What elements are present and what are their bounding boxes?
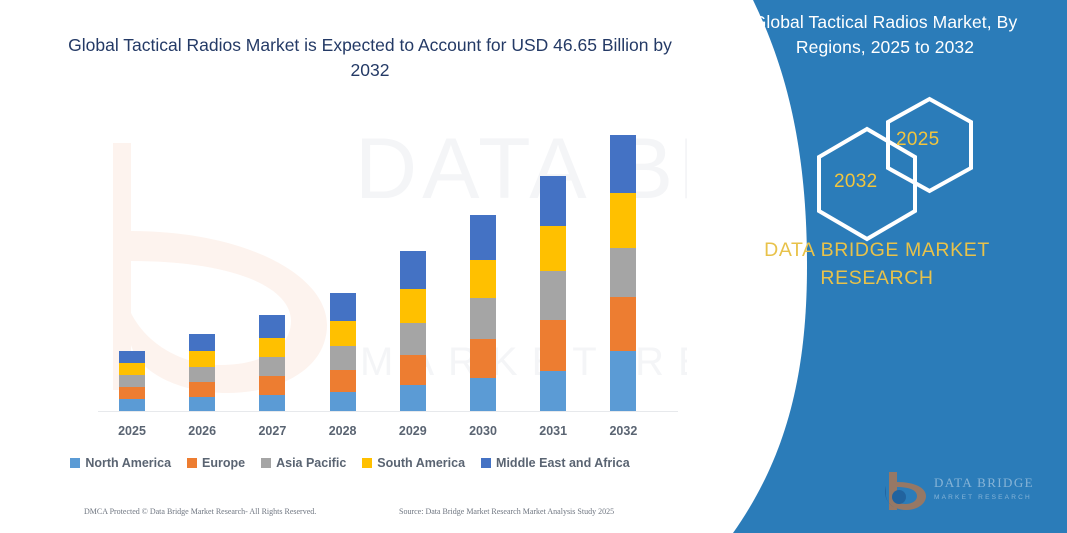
- bar-segment-europe[interactable]: [400, 355, 426, 385]
- legend-item-north-america[interactable]: North America: [70, 456, 171, 470]
- footer-source: Source: Data Bridge Market Research Mark…: [399, 507, 614, 516]
- bar-segment-europe[interactable]: [259, 376, 285, 395]
- legend-label: Europe: [202, 456, 245, 470]
- bar-2028[interactable]: [330, 0, 356, 411]
- legend-label: Asia Pacific: [276, 456, 346, 470]
- bar-2030[interactable]: [470, 0, 496, 411]
- bar-segment-europe[interactable]: [610, 297, 636, 351]
- x-axis-label-2029: 2029: [383, 424, 443, 438]
- bar-segment-south-america[interactable]: [189, 351, 215, 367]
- bar-segment-asia-pacific[interactable]: [119, 375, 145, 387]
- bar-segment-asia-pacific[interactable]: [610, 248, 636, 297]
- bar-segment-europe[interactable]: [470, 339, 496, 378]
- bar-segment-middle-east-and-africa[interactable]: [400, 251, 426, 289]
- chart-legend: North AmericaEuropeAsia PacificSouth Ame…: [0, 456, 700, 470]
- bar-segment-europe[interactable]: [119, 387, 145, 399]
- bar-segment-south-america[interactable]: [259, 338, 285, 357]
- bar-segment-europe[interactable]: [330, 370, 356, 392]
- legend-swatch-icon: [261, 458, 271, 468]
- legend-swatch-icon: [70, 458, 80, 468]
- bar-segment-asia-pacific[interactable]: [330, 346, 356, 370]
- bar-segment-south-america[interactable]: [540, 226, 566, 271]
- bar-2025[interactable]: [119, 0, 145, 411]
- x-axis-label-2032: 2032: [593, 424, 653, 438]
- bar-segment-south-america[interactable]: [470, 260, 496, 298]
- x-axis-label-2031: 2031: [523, 424, 583, 438]
- bar-2027[interactable]: [259, 0, 285, 411]
- x-axis-labels: 20252026202720282029203020312032: [0, 424, 700, 444]
- bar-segment-europe[interactable]: [189, 382, 215, 397]
- x-axis-label-2025: 2025: [102, 424, 162, 438]
- legend-swatch-icon: [362, 458, 372, 468]
- legend-swatch-icon: [481, 458, 491, 468]
- bar-segment-middle-east-and-africa[interactable]: [259, 315, 285, 338]
- bar-segment-north-america[interactable]: [470, 378, 496, 411]
- infographic-root: DATA BRIDGE MARKET RESEARCH Global Tacti…: [0, 0, 1067, 533]
- bar-segment-asia-pacific[interactable]: [470, 298, 496, 339]
- bar-2032[interactable]: [610, 0, 636, 411]
- legend-item-middle-east-and-africa[interactable]: Middle East and Africa: [481, 456, 630, 470]
- bar-segment-north-america[interactable]: [119, 399, 145, 411]
- bar-segment-asia-pacific[interactable]: [540, 271, 566, 320]
- chart-baseline: [98, 411, 678, 412]
- legend-label: South America: [377, 456, 465, 470]
- bar-segment-south-america[interactable]: [119, 363, 145, 375]
- legend-swatch-icon: [187, 458, 197, 468]
- bar-segment-asia-pacific[interactable]: [189, 367, 215, 382]
- legend-label: North America: [85, 456, 171, 470]
- x-axis-label-2028: 2028: [313, 424, 373, 438]
- brand-panel-shape: [687, 0, 1067, 533]
- bar-segment-middle-east-and-africa[interactable]: [330, 293, 356, 321]
- bar-segment-north-america[interactable]: [189, 397, 215, 411]
- footer-copyright: DMCA Protected © Data Bridge Market Rese…: [84, 507, 316, 516]
- bar-segment-asia-pacific[interactable]: [259, 357, 285, 376]
- bar-segment-north-america[interactable]: [400, 385, 426, 411]
- bar-segment-south-america[interactable]: [610, 193, 636, 248]
- legend-item-south-america[interactable]: South America: [362, 456, 465, 470]
- bar-segment-north-america[interactable]: [540, 371, 566, 411]
- bar-segment-south-america[interactable]: [400, 289, 426, 323]
- legend-item-asia-pacific[interactable]: Asia Pacific: [261, 456, 346, 470]
- x-axis-label-2030: 2030: [453, 424, 513, 438]
- bar-segment-north-america[interactable]: [330, 392, 356, 411]
- bar-segment-middle-east-and-africa[interactable]: [610, 135, 636, 193]
- legend-label: Middle East and Africa: [496, 456, 630, 470]
- footer: DMCA Protected © Data Bridge Market Rese…: [0, 507, 700, 527]
- bar-segment-asia-pacific[interactable]: [400, 323, 426, 355]
- bar-2026[interactable]: [189, 0, 215, 411]
- bar-segment-middle-east-and-africa[interactable]: [189, 334, 215, 351]
- legend-item-europe[interactable]: Europe: [187, 456, 245, 470]
- bar-2031[interactable]: [540, 0, 566, 411]
- bar-segment-middle-east-and-africa[interactable]: [119, 351, 145, 363]
- bar-segment-north-america[interactable]: [259, 395, 285, 411]
- brand-panel: Global Tactical Radios Market, By Region…: [687, 0, 1067, 533]
- bar-segment-middle-east-and-africa[interactable]: [540, 176, 566, 226]
- bar-2029[interactable]: [400, 0, 426, 411]
- bar-segment-north-america[interactable]: [610, 351, 636, 411]
- x-axis-label-2027: 2027: [242, 424, 302, 438]
- bar-segment-europe[interactable]: [540, 320, 566, 371]
- bar-segment-middle-east-and-africa[interactable]: [470, 215, 496, 260]
- bar-segment-south-america[interactable]: [330, 321, 356, 346]
- x-axis-label-2026: 2026: [172, 424, 232, 438]
- chart-plot-area: 20252026202720282029203020312032 North A…: [0, 0, 700, 470]
